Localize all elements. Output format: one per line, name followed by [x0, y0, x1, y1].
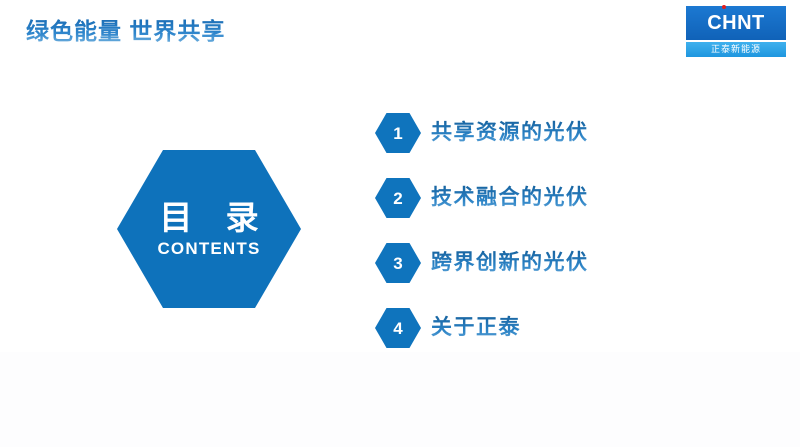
contents-title-en: CONTENTS — [157, 239, 260, 259]
logo-red-dot-icon — [722, 5, 726, 9]
list-item[interactable]: 1 共享资源的光伏 — [375, 113, 765, 153]
hexagon-number-icon: 1 — [375, 113, 421, 153]
list-item[interactable]: 4 关于正泰 — [375, 308, 765, 348]
list-item[interactable]: 3 跨界创新的光伏 — [375, 243, 765, 283]
hexagon-number-icon: 2 — [375, 178, 421, 218]
menu-item-number: 4 — [393, 320, 402, 337]
background-watermark — [0, 352, 800, 447]
menu-item-label: 技术融合的光伏 — [431, 185, 589, 211]
menu-item-number: 1 — [393, 125, 402, 142]
menu-item-number: 3 — [393, 255, 402, 272]
menu-item-label: 共享资源的光伏 — [431, 120, 589, 146]
menu-item-number: 2 — [393, 190, 402, 207]
logo-wordmark-text: CHNT — [707, 13, 765, 33]
logo-subtitle-text: 正泰新能源 — [711, 45, 761, 54]
logo-subtitle-block: 正泰新能源 — [686, 42, 786, 57]
contents-menu-list: 1 共享资源的光伏 2 技术融合的光伏 3 跨界创新的光伏 4 关于正泰 — [375, 113, 765, 348]
logo-wordmark-block: CHNT — [686, 6, 786, 40]
hexagon-number-icon: 3 — [375, 243, 421, 283]
page-title: 绿色能量 世界共享 — [26, 18, 225, 46]
chint-logo: CHNT 正泰新能源 — [686, 6, 786, 57]
hexagon-number-icon: 4 — [375, 308, 421, 348]
menu-item-label: 跨界创新的光伏 — [431, 250, 589, 276]
contents-hexagon: 目 录 CONTENTS — [117, 150, 301, 308]
list-item[interactable]: 2 技术融合的光伏 — [375, 178, 765, 218]
menu-item-label: 关于正泰 — [431, 315, 521, 341]
presentation-slide: 绿色能量 世界共享 CHNT 正泰新能源 目 录 CONTENTS 1 共享资源… — [0, 0, 800, 447]
contents-title-cn: 目 录 — [147, 199, 270, 237]
